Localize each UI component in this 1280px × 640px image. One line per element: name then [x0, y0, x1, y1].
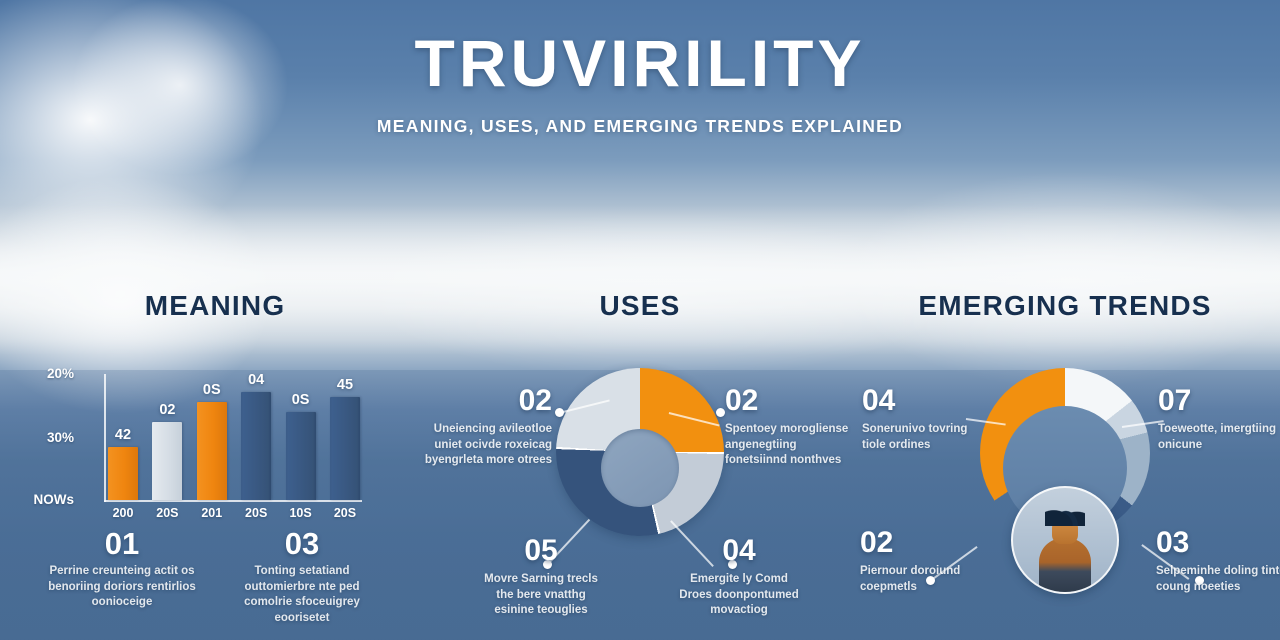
bar-chart: 20% 30% NOWs 42 02 0S 04	[62, 374, 362, 519]
caption-text: Perrine creunteing actit os benoriing do…	[42, 564, 202, 611]
bar-item[interactable]: 0S	[197, 374, 227, 500]
caption-item[interactable]: 03 Tonting setatiand outtomierbre nte pe…	[222, 528, 382, 626]
y-axis-tick: 30%	[22, 430, 74, 445]
callout-number: 04	[673, 536, 805, 566]
callout-item[interactable]: 02 Uneiencing avileotloe uniet ocivde ro…	[420, 386, 552, 469]
y-axis-tick: 20%	[22, 366, 74, 381]
caption-item[interactable]: 01 Perrine creunteing actit os benoriing…	[42, 528, 202, 611]
x-axis-tick: 201	[197, 506, 227, 520]
callout-item[interactable]: 03 Selpeminhe doling tinte coung noeetie…	[1156, 528, 1280, 595]
avatar-hair	[1045, 500, 1085, 526]
callout-number: 02	[725, 386, 857, 416]
bar-rect	[152, 422, 182, 500]
y-axis-tick: NOWs	[22, 492, 74, 507]
callout-item[interactable]: 02 Spentoey morogliense angenegtiing fon…	[725, 386, 857, 469]
callout-text: Emergite ly Comd Droes doonpontumed mova…	[673, 572, 805, 619]
callout-item[interactable]: 04 Sonerunivo tovring tiole ordines	[862, 386, 994, 453]
bar-item[interactable]: 45	[330, 374, 360, 500]
section-meaning: MEANING 20% 30% NOWs 42 02 0S	[0, 290, 430, 519]
callout-item[interactable]: 07 Toeweotte, imergtiing onicune	[1158, 386, 1280, 453]
callout-text: Piernour doroiund coepmetls	[860, 564, 992, 595]
bar-item[interactable]: 02	[152, 374, 182, 500]
bar-rect	[241, 392, 271, 500]
bar-rect	[197, 402, 227, 500]
bar-item[interactable]: 42	[108, 374, 138, 500]
caption-text: Tonting setatiand outtomierbre nte ped c…	[222, 564, 382, 626]
bar-rect	[330, 397, 360, 500]
leader-dot	[555, 408, 564, 417]
section-heading-uses: USES	[425, 290, 855, 322]
avatar-body	[1039, 538, 1091, 592]
section-uses: USES 02 Uneiencing avileotloe uniet ociv…	[425, 290, 855, 568]
bar-item[interactable]: 04	[241, 374, 271, 500]
bar-group: 42 02 0S 04 0S	[108, 374, 360, 500]
infographic-canvas: TRUVIRILITY MEANING, USES, AND EMERGING …	[0, 0, 1280, 640]
callout-text: Movre Sarning trecls the bere vnatthg es…	[475, 572, 607, 619]
y-axis	[104, 374, 106, 502]
section-heading-meaning: MEANING	[0, 290, 430, 322]
x-axis-tick: 20S	[241, 506, 271, 520]
callout-text: Uneiencing avileotloe uniet ocivde roxei…	[420, 422, 552, 469]
x-axis-tick: 20S	[330, 506, 360, 520]
bar-rect	[286, 412, 316, 500]
callout-number: 07	[1158, 386, 1280, 416]
leader-dot	[716, 408, 725, 417]
callout-number: 02	[420, 386, 552, 416]
callout-item[interactable]: 02 Piernour doroiund coepmetls	[860, 528, 992, 595]
avatar[interactable]	[1011, 486, 1119, 594]
x-axis-tick: 10S	[286, 506, 316, 520]
caption-number: 03	[222, 528, 382, 559]
bar-value-label: 42	[115, 427, 131, 443]
bar-rect	[108, 447, 138, 500]
bar-value-label: 0S	[203, 382, 221, 398]
x-axis-tick: 20S	[152, 506, 182, 520]
callout-text: Sonerunivo tovring tiole ordines	[862, 422, 994, 453]
page-title: TRUVIRILITY	[0, 30, 1280, 96]
callout-item[interactable]: 04 Emergite ly Comd Droes doonpontumed m…	[673, 536, 805, 619]
header: TRUVIRILITY MEANING, USES, AND EMERGING …	[0, 30, 1280, 137]
bar-value-label: 04	[248, 372, 264, 388]
callout-item[interactable]: 05 Movre Sarning trecls the bere vnatthg…	[475, 536, 607, 619]
caption-number: 01	[42, 528, 202, 559]
bar-value-label: 0S	[292, 392, 310, 408]
bar-value-label: 02	[159, 402, 175, 418]
x-axis-tick: 200	[108, 506, 138, 520]
callout-number: 02	[860, 528, 992, 558]
callout-number: 03	[1156, 528, 1280, 558]
section-heading-trends: EMERGING TRENDS	[850, 290, 1280, 322]
donut-center-hole	[601, 429, 679, 507]
callout-text: Spentoey morogliense angenegtiing fonets…	[725, 422, 857, 469]
section-emerging-trends: EMERGING TRENDS 04 Sonerunivo tovring ti…	[850, 290, 1280, 568]
page-subtitle: MEANING, USES, AND EMERGING TRENDS EXPLA…	[0, 116, 1280, 137]
callout-text: Toeweotte, imergtiing onicune	[1158, 422, 1280, 453]
callout-number: 05	[475, 536, 607, 566]
x-axis-tick-group: 200 20S 201 20S 10S 20S	[108, 506, 360, 520]
bar-item[interactable]: 0S	[286, 374, 316, 500]
callout-number: 04	[862, 386, 994, 416]
x-axis	[104, 500, 362, 502]
callout-text: Selpeminhe doling tinte coung noeeties	[1156, 564, 1280, 595]
bar-value-label: 45	[337, 377, 353, 393]
